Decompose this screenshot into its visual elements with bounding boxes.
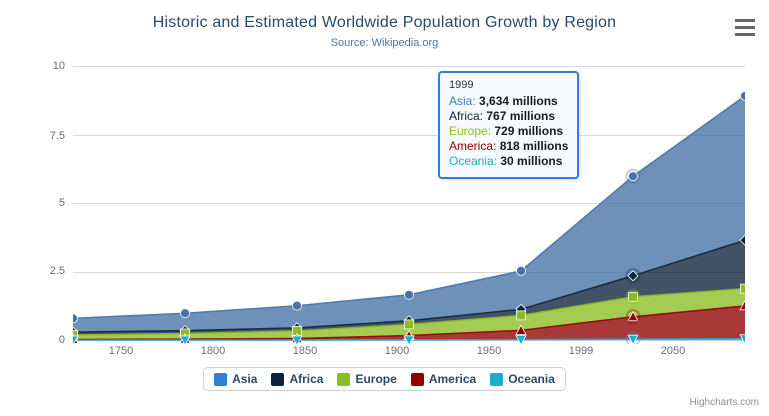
chart-title: Historic and Estimated Worldwide Populat…: [0, 14, 769, 32]
tooltip-series-name: America:: [449, 139, 500, 153]
legend-swatch-icon: [490, 373, 503, 386]
legend-item-label: Oceania: [508, 372, 555, 386]
tooltip-header: 1999: [449, 79, 568, 91]
chart-subtitle: Source: Wikipedia.org: [0, 37, 769, 49]
x-axis-tick: 1999: [546, 345, 616, 357]
legend-item-europe[interactable]: Europe: [337, 372, 396, 386]
tooltip-row: Asia: 3,634 millions: [449, 94, 568, 109]
credits-link[interactable]: Highcharts.com: [690, 397, 759, 408]
x-axis-tick: 1900: [362, 345, 432, 357]
tooltip-row: Oceania: 30 millions: [449, 154, 568, 169]
legend-item-label: Africa: [289, 372, 323, 386]
tooltip-series-value: 729 millions: [494, 124, 563, 138]
legend-item-label: America: [429, 372, 476, 386]
tooltip-series-value: 30 millions: [500, 154, 562, 168]
tooltip-series-name: Africa:: [449, 109, 486, 123]
y-axis-tick: 5: [5, 198, 65, 209]
legend-item-africa[interactable]: Africa: [271, 372, 323, 386]
point-europe[interactable]: [741, 284, 746, 293]
legend: AsiaAfricaEuropeAmericaOceania: [0, 367, 769, 391]
point-asia[interactable]: [629, 172, 638, 181]
x-axis-tick: 1800: [178, 345, 248, 357]
tooltip-series-value: 3,634 millions: [479, 94, 558, 108]
tooltip-series-name: Asia:: [449, 94, 479, 108]
legend-swatch-icon: [337, 373, 350, 386]
tooltip: 1999 Asia: 3,634 millionsAfrica: 767 mil…: [438, 71, 579, 179]
tooltip-row: Europe: 729 millions: [449, 124, 568, 139]
x-axis-tick: 1750: [86, 345, 156, 357]
tooltip-series-value: 767 millions: [486, 109, 555, 123]
tooltip-rows: Asia: 3,634 millionsAfrica: 767 millions…: [449, 94, 568, 169]
point-europe[interactable]: [629, 292, 638, 301]
legend-item-label: Asia: [232, 372, 257, 386]
point-europe[interactable]: [405, 320, 414, 329]
x-axis-tick: 1950: [454, 345, 524, 357]
tooltip-row: America: 818 millions: [449, 139, 568, 154]
legend-swatch-icon: [214, 373, 227, 386]
legend-item-oceania[interactable]: Oceania: [490, 372, 555, 386]
legend-item-asia[interactable]: Asia: [214, 372, 257, 386]
legend-swatch-icon: [271, 373, 284, 386]
y-axis-tick: 2.5: [5, 266, 65, 277]
y-axis-tick: 10: [5, 61, 65, 72]
y-axis-tick: 7.5: [5, 131, 65, 142]
y-axis-tick: 0: [5, 335, 65, 346]
chart-container: Historic and Estimated Worldwide Populat…: [0, 0, 769, 416]
tooltip-series-name: Europe:: [449, 124, 494, 138]
point-europe[interactable]: [517, 311, 526, 320]
x-axis-tick: 1850: [270, 345, 340, 357]
context-menu-icon[interactable]: [733, 16, 757, 38]
hamburger-bar: [735, 19, 755, 22]
hamburger-bar: [735, 33, 755, 36]
point-asia[interactable]: [293, 301, 302, 310]
point-asia[interactable]: [181, 309, 190, 318]
y-axis-title: Billions: [0, 148, 1, 188]
legend-item-label: Europe: [355, 372, 396, 386]
x-axis-tick: 2050: [638, 345, 708, 357]
series-layer: [73, 66, 745, 344]
legend-item-america[interactable]: America: [411, 372, 476, 386]
hamburger-bar: [735, 26, 755, 29]
legend-swatch-icon: [411, 373, 424, 386]
point-asia[interactable]: [517, 266, 526, 275]
tooltip-series-name: Oceania:: [449, 154, 500, 168]
tooltip-series-value: 818 millions: [500, 139, 569, 153]
point-asia[interactable]: [405, 290, 414, 299]
legend-items: AsiaAfricaEuropeAmericaOceania: [203, 367, 566, 391]
tooltip-row: Africa: 767 millions: [449, 109, 568, 124]
